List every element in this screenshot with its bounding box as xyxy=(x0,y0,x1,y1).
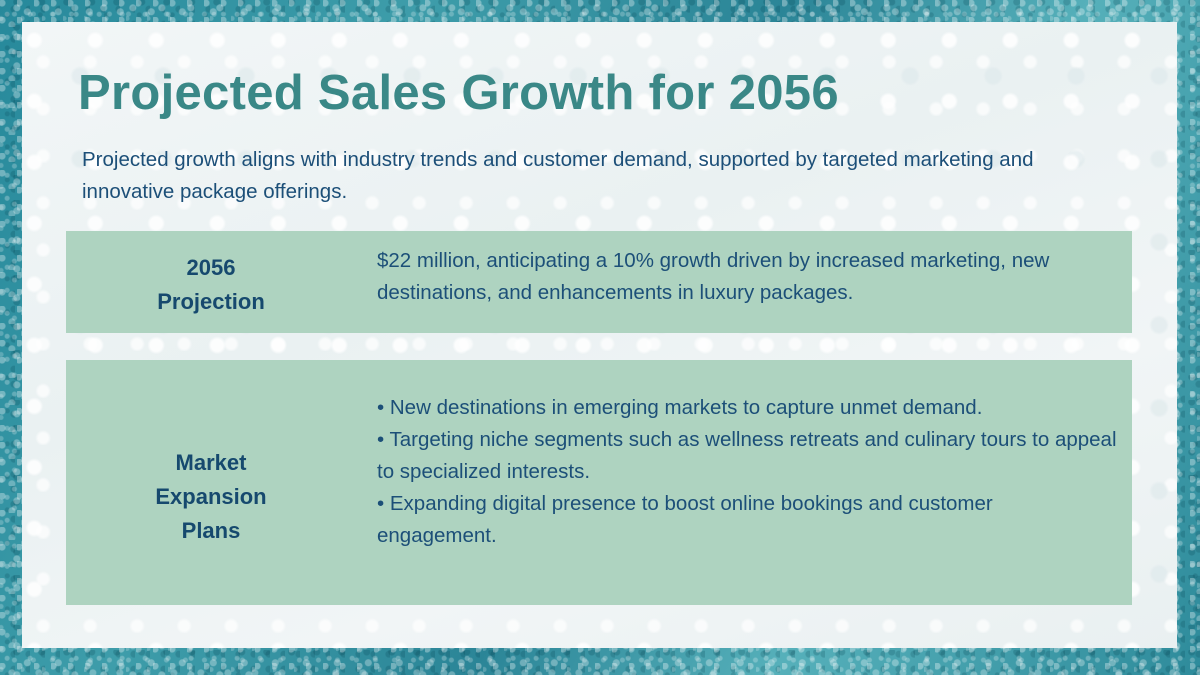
row-body-projection: $22 million, anticipating a 10% growth d… xyxy=(377,245,1117,309)
row-label-line: Expansion xyxy=(66,480,356,514)
list-item: • New destinations in emerging markets t… xyxy=(377,392,1117,424)
list-item: • Expanding digital presence to boost on… xyxy=(377,488,1117,552)
row-label-projection: 2056 Projection xyxy=(66,251,356,319)
row-label-market-expansion: Market Expansion Plans xyxy=(66,446,356,548)
row-label-line: Market xyxy=(66,446,356,480)
row-label-line: Projection xyxy=(66,285,356,319)
row-label-line: Plans xyxy=(66,514,356,548)
page-title: Projected Sales Growth for 2056 xyxy=(78,65,839,121)
row-label-line: 2056 xyxy=(66,251,356,285)
table-row: Market Expansion Plans • New destination… xyxy=(66,360,1132,605)
row-body-market-expansion: • New destinations in emerging markets t… xyxy=(377,392,1117,552)
slide-subtitle: Projected growth aligns with industry tr… xyxy=(82,144,1127,208)
table-row: 2056 Projection $22 million, anticipatin… xyxy=(66,231,1132,333)
slide-canvas: Projected Sales Growth for 2056 Projecte… xyxy=(0,0,1200,675)
slide-content-card: Projected Sales Growth for 2056 Projecte… xyxy=(22,22,1177,648)
list-item: • Targeting niche segments such as welln… xyxy=(377,424,1117,488)
